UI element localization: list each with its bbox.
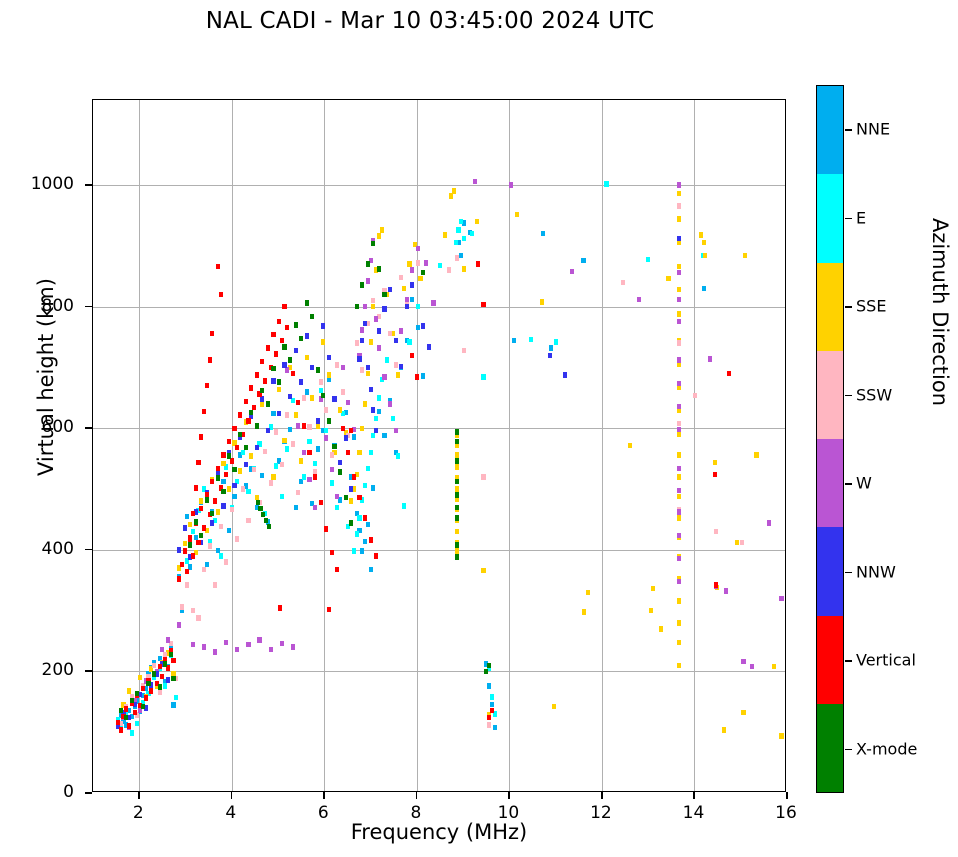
data-point-vertical: [216, 264, 220, 269]
data-point-nnw: [399, 364, 403, 369]
data-point-vertical: [149, 688, 153, 693]
data-point-sse: [455, 547, 459, 552]
data-point-w: [269, 647, 273, 652]
data-point-sse: [677, 598, 681, 603]
data-point-sse: [772, 664, 776, 669]
data-point-nne: [360, 548, 364, 553]
data-point-vertical: [238, 412, 242, 417]
data-point-x-mode: [455, 492, 459, 497]
data-point-sse: [366, 371, 370, 376]
data-point-sse: [743, 253, 747, 258]
data-point-w: [302, 450, 306, 455]
data-point-sse: [369, 339, 373, 344]
data-point-e: [352, 548, 356, 553]
data-point-x-mode: [455, 439, 459, 444]
data-point-sse: [277, 387, 281, 392]
data-point-x-mode: [141, 704, 145, 709]
colorbar-tick-mark: [845, 572, 852, 574]
data-point-sse: [452, 188, 456, 193]
data-point-x-mode: [199, 533, 203, 538]
page-title: NAL CADI - Mar 10 03:45:00 2024 UTC: [0, 8, 860, 34]
data-point-sse: [183, 541, 187, 546]
data-point-e: [490, 694, 494, 699]
data-point-nne: [271, 411, 275, 416]
data-point-nnw: [221, 503, 225, 508]
data-point-vertical: [274, 351, 278, 356]
data-point-nne: [421, 373, 425, 378]
data-point-e: [330, 480, 334, 485]
data-point-x-mode: [227, 453, 231, 458]
data-point-nne: [493, 725, 497, 730]
data-point-ssw: [158, 689, 162, 694]
data-point-vertical: [235, 445, 239, 450]
data-point-sse: [127, 688, 131, 693]
data-point-vertical: [271, 332, 275, 337]
data-point-nne: [382, 433, 386, 438]
data-point-sse: [649, 608, 653, 613]
data-point-ssw: [263, 449, 267, 454]
data-point-vertical: [249, 385, 253, 390]
data-point-nnw: [327, 355, 331, 360]
data-point-vertical: [171, 658, 175, 663]
data-point-vertical: [202, 409, 206, 414]
data-point-vertical: [210, 331, 214, 336]
data-point-vertical: [410, 353, 414, 358]
data-point-x-mode: [355, 304, 359, 309]
data-point-vertical: [296, 400, 300, 405]
colorbar-segment-nne[interactable]: [817, 86, 843, 174]
x-tick-mark: [416, 792, 418, 799]
data-point-e: [163, 683, 167, 688]
colorbar-segment-x-mode[interactable]: [817, 704, 843, 792]
colorbar-segment-sse[interactable]: [817, 263, 843, 351]
x-axis-label: Frequency (MHz): [92, 820, 786, 844]
data-point-ssw: [481, 474, 485, 479]
data-point-nnw: [244, 462, 248, 467]
data-point-vertical: [291, 371, 295, 376]
data-point-sse: [216, 509, 220, 514]
data-point-vertical: [487, 715, 491, 720]
data-point-sse: [540, 299, 544, 304]
data-point-vertical: [202, 525, 206, 530]
data-point-vertical: [124, 706, 128, 711]
data-point-nne: [288, 427, 292, 432]
data-point-sse: [455, 529, 459, 534]
colorbar-tick-mark: [845, 483, 852, 485]
data-point-vertical: [177, 576, 181, 581]
data-point-sse: [238, 468, 242, 473]
data-point-sse: [357, 450, 361, 455]
data-point-w: [346, 400, 350, 405]
data-point-x-mode: [260, 388, 264, 393]
colorbar-label-ssw: SSW: [856, 385, 892, 404]
data-point-sse: [677, 494, 681, 499]
data-point-sse: [677, 191, 681, 196]
data-point-sse: [481, 568, 485, 573]
data-point-nne: [171, 702, 175, 707]
colorbar-segment-e[interactable]: [817, 174, 843, 262]
data-point-sse: [735, 540, 739, 545]
data-point-nnw: [410, 282, 414, 287]
data-point-vertical: [191, 511, 195, 516]
data-point-vertical: [727, 371, 731, 376]
data-point-ssw: [219, 524, 223, 529]
data-point-vertical: [183, 548, 187, 553]
data-point-x-mode: [266, 401, 270, 406]
data-point-ssw: [462, 348, 466, 353]
data-point-sse: [396, 372, 400, 377]
y-tick-mark: [85, 670, 92, 672]
data-point-vertical: [415, 374, 419, 379]
data-point-nnw: [210, 520, 214, 525]
data-point-x-mode: [455, 505, 459, 510]
data-point-nnw: [255, 445, 259, 450]
data-point-vertical: [221, 452, 225, 457]
data-point-w: [377, 345, 381, 350]
data-point-x-mode: [277, 379, 281, 384]
data-point-sse: [702, 240, 706, 245]
data-point-vertical: [116, 720, 120, 725]
data-point-x-mode: [332, 444, 336, 449]
data-point-w: [330, 467, 334, 472]
data-point-sse: [677, 287, 681, 292]
data-point-ssw: [202, 567, 206, 572]
data-point-w: [677, 427, 681, 432]
data-point-ssw: [152, 663, 156, 668]
data-point-ssw: [416, 260, 420, 265]
data-point-x-mode: [119, 708, 123, 713]
data-point-nne: [363, 539, 367, 544]
data-point-nne: [581, 258, 585, 263]
data-point-w: [410, 267, 414, 272]
data-point-w: [767, 520, 771, 525]
data-point-w: [677, 270, 681, 275]
data-point-vertical: [133, 710, 137, 715]
data-point-x-mode: [344, 495, 348, 500]
data-point-vertical: [357, 495, 361, 500]
data-point-vertical: [255, 372, 259, 377]
colorbar-segment-vertical[interactable]: [817, 616, 843, 704]
data-point-sse: [371, 304, 375, 309]
data-point-w: [235, 647, 239, 652]
data-point-e: [302, 474, 306, 479]
data-point-e: [470, 231, 474, 236]
data-point-w: [341, 365, 345, 370]
data-point-x-mode: [158, 684, 162, 689]
colorbar-segment-w[interactable]: [817, 439, 843, 527]
data-point-x-mode: [216, 475, 220, 480]
x-tick-mark: [508, 792, 510, 799]
data-point-nne: [305, 389, 309, 394]
data-point-nne: [416, 325, 420, 330]
y-tick-mark: [85, 306, 92, 308]
data-point-sse: [360, 426, 364, 431]
data-point-x-mode: [321, 393, 325, 398]
data-point-x-mode: [421, 270, 425, 275]
data-point-nne: [371, 485, 375, 490]
x-tick-mark: [601, 792, 603, 799]
data-point-vertical: [199, 434, 203, 439]
data-point-nnw: [277, 411, 281, 416]
data-point-w: [324, 435, 328, 440]
data-point-vertical: [277, 319, 281, 324]
plot-axes: [92, 99, 786, 792]
data-point-x-mode: [455, 542, 459, 547]
data-point-vertical: [216, 466, 220, 471]
data-point-x-mode: [194, 519, 198, 524]
data-point-ssw: [274, 429, 278, 434]
data-point-e: [396, 453, 400, 458]
data-point-nnw: [282, 362, 286, 367]
data-point-sse: [677, 474, 681, 479]
data-point-x-mode: [338, 469, 342, 474]
colorbar-label-nne: NNE: [856, 120, 890, 139]
data-point-x-mode: [188, 542, 192, 547]
data-point-nnw: [421, 323, 425, 328]
data-point-ssw: [291, 441, 295, 446]
data-point-nne: [410, 297, 414, 302]
data-point-sse: [310, 395, 314, 400]
data-point-sse: [552, 704, 556, 709]
data-point-vertical: [476, 261, 480, 266]
data-point-nnw: [232, 483, 236, 488]
data-point-nne: [316, 446, 320, 451]
data-point-nne: [327, 377, 331, 382]
data-point-sse: [338, 407, 342, 412]
colorbar-segment-nnw[interactable]: [817, 527, 843, 615]
data-point-nnw: [377, 328, 381, 333]
data-point-ssw: [714, 529, 718, 534]
data-point-w: [677, 556, 681, 561]
data-point-vertical: [213, 498, 217, 503]
data-point-x-mode: [455, 479, 459, 484]
data-point-nne: [227, 528, 231, 533]
data-point-e: [313, 461, 317, 466]
data-point-w: [677, 404, 681, 409]
data-point-x-mode: [327, 418, 331, 423]
data-point-x-mode: [455, 429, 459, 434]
data-point-nne: [232, 494, 236, 499]
data-point-ssw: [388, 331, 392, 336]
data-point-vertical: [352, 474, 356, 479]
data-point-nne: [487, 683, 491, 688]
data-point-sse: [221, 461, 225, 466]
data-point-vertical: [374, 553, 378, 558]
data-point-ssw: [319, 379, 323, 384]
data-point-sse: [316, 423, 320, 428]
data-point-x-mode: [238, 432, 242, 437]
data-point-sse: [677, 620, 681, 625]
data-point-sse: [377, 233, 381, 238]
data-point-e: [438, 263, 442, 268]
data-point-nnw: [394, 338, 398, 343]
data-point-x-mode: [371, 241, 375, 246]
data-point-sse: [455, 464, 459, 469]
data-point-x-mode: [261, 512, 265, 517]
data-point-nnw: [677, 236, 681, 241]
x-tick-mark: [138, 792, 140, 799]
data-point-e: [366, 466, 370, 471]
data-point-w: [779, 596, 783, 601]
x-tick-mark: [323, 792, 325, 799]
data-point-nnw: [344, 435, 348, 440]
data-point-sse: [380, 227, 384, 232]
data-point-ssw: [191, 608, 195, 613]
data-point-ssw: [487, 722, 491, 727]
data-point-sse: [455, 452, 459, 457]
data-point-sse: [659, 626, 663, 631]
data-point-w: [335, 494, 339, 499]
data-point-vertical: [369, 537, 373, 542]
data-point-w: [285, 367, 289, 372]
data-point-vertical: [208, 357, 212, 362]
colorbar-tick-mark: [845, 660, 852, 662]
data-point-sse: [199, 498, 203, 503]
data-point-nnw: [360, 338, 364, 343]
data-point-nnw: [363, 321, 367, 326]
data-point-e: [191, 529, 195, 534]
data-point-vertical: [144, 695, 148, 700]
data-point-sse: [779, 733, 783, 738]
data-point-ssw: [677, 203, 681, 208]
data-point-nnw: [183, 525, 187, 530]
data-point-w: [677, 319, 681, 324]
data-point-vertical: [263, 378, 267, 383]
data-point-e: [241, 450, 245, 455]
data-point-e: [646, 257, 650, 262]
data-point-sse: [677, 515, 681, 520]
data-point-ssw: [252, 467, 256, 472]
data-point-e: [335, 505, 339, 510]
data-point-e: [462, 236, 466, 241]
y-tick-label: 0: [0, 782, 74, 802]
data-point-nne: [459, 253, 463, 258]
data-point-x-mode: [146, 681, 150, 686]
colorbar-label-w: W: [856, 474, 872, 493]
data-point-e: [246, 489, 250, 494]
data-point-w: [296, 423, 300, 428]
data-point-ssw: [285, 412, 289, 417]
data-point-vertical: [224, 472, 228, 477]
data-point-vertical: [199, 506, 203, 511]
data-point-sse: [582, 609, 586, 614]
colorbar-tick-mark: [845, 218, 852, 220]
colorbar-tick-mark: [845, 749, 852, 751]
data-point-ssw: [455, 255, 459, 260]
data-point-e: [219, 553, 223, 558]
data-point-nne: [369, 567, 373, 572]
data-point-ssw: [230, 507, 234, 512]
data-point-nnw: [405, 304, 409, 309]
data-point-vertical: [188, 536, 192, 541]
data-point-nnw: [388, 287, 392, 292]
data-point-ssw: [394, 362, 398, 367]
data-point-x-mode: [152, 671, 156, 676]
data-point-x-mode: [258, 506, 262, 511]
data-point-sse: [722, 727, 726, 732]
data-point-w: [677, 182, 681, 187]
data-point-ssw: [213, 582, 217, 587]
data-point-vertical: [219, 292, 223, 297]
data-point-vertical: [285, 325, 289, 330]
data-point-ssw: [693, 393, 697, 398]
data-point-x-mode: [256, 500, 260, 505]
data-point-e: [280, 494, 284, 499]
data-point-nnw: [563, 372, 567, 377]
data-point-ssw: [269, 480, 273, 485]
data-point-w: [677, 533, 681, 538]
data-point-ssw: [241, 486, 245, 491]
colorbar-segment-ssw[interactable]: [817, 351, 843, 439]
data-point-ssw: [335, 362, 339, 367]
data-point-nnw: [271, 378, 275, 383]
data-point-vertical: [341, 426, 345, 431]
data-point-sse: [651, 586, 655, 591]
data-point-vertical: [191, 553, 195, 558]
data-point-e: [377, 395, 381, 400]
data-point-nne: [549, 345, 553, 350]
data-point-w: [677, 297, 681, 302]
data-point-nne: [541, 231, 545, 236]
data-point-e: [459, 219, 463, 224]
data-point-w: [191, 642, 195, 647]
data-point-sse: [294, 412, 298, 417]
data-point-vertical: [363, 515, 367, 520]
data-point-sse: [188, 522, 192, 527]
data-point-e: [363, 483, 367, 488]
data-point-e: [174, 695, 178, 700]
data-point-vertical: [158, 664, 162, 669]
data-point-w: [405, 297, 409, 302]
data-point-vertical: [205, 383, 209, 388]
colorbar[interactable]: [816, 85, 844, 793]
data-point-sse: [138, 675, 142, 680]
data-point-vertical: [119, 727, 123, 732]
data-point-sse: [402, 286, 406, 291]
data-point-sse: [282, 438, 286, 443]
y-tick-mark: [85, 549, 92, 551]
data-point-w: [677, 466, 681, 471]
data-point-ssw: [677, 340, 681, 345]
data-point-vertical: [244, 399, 248, 404]
data-point-sse: [677, 264, 681, 269]
data-point-ssw: [224, 559, 228, 564]
data-point-nne: [377, 409, 381, 414]
data-point-e: [416, 304, 420, 309]
data-point-e: [324, 428, 328, 433]
data-point-nnw: [310, 365, 314, 370]
data-point-sse: [677, 216, 681, 221]
data-point-ssw: [196, 615, 200, 620]
data-point-nnw: [357, 356, 361, 361]
data-point-sse: [713, 460, 717, 465]
data-point-vertical: [141, 686, 145, 691]
data-point-vertical: [180, 562, 184, 567]
data-point-sse: [677, 311, 681, 316]
y-tick-mark: [85, 427, 92, 429]
data-point-w: [291, 644, 295, 649]
data-point-e: [371, 433, 375, 438]
data-point-ssw: [341, 389, 345, 394]
data-point-w: [177, 622, 181, 627]
data-point-e: [274, 463, 278, 468]
data-point-w: [750, 664, 754, 669]
data-point-vertical: [278, 605, 282, 610]
data-point-e: [529, 337, 533, 342]
data-point-x-mode: [294, 322, 298, 327]
data-point-vertical: [349, 428, 353, 433]
data-point-sse: [227, 486, 231, 491]
